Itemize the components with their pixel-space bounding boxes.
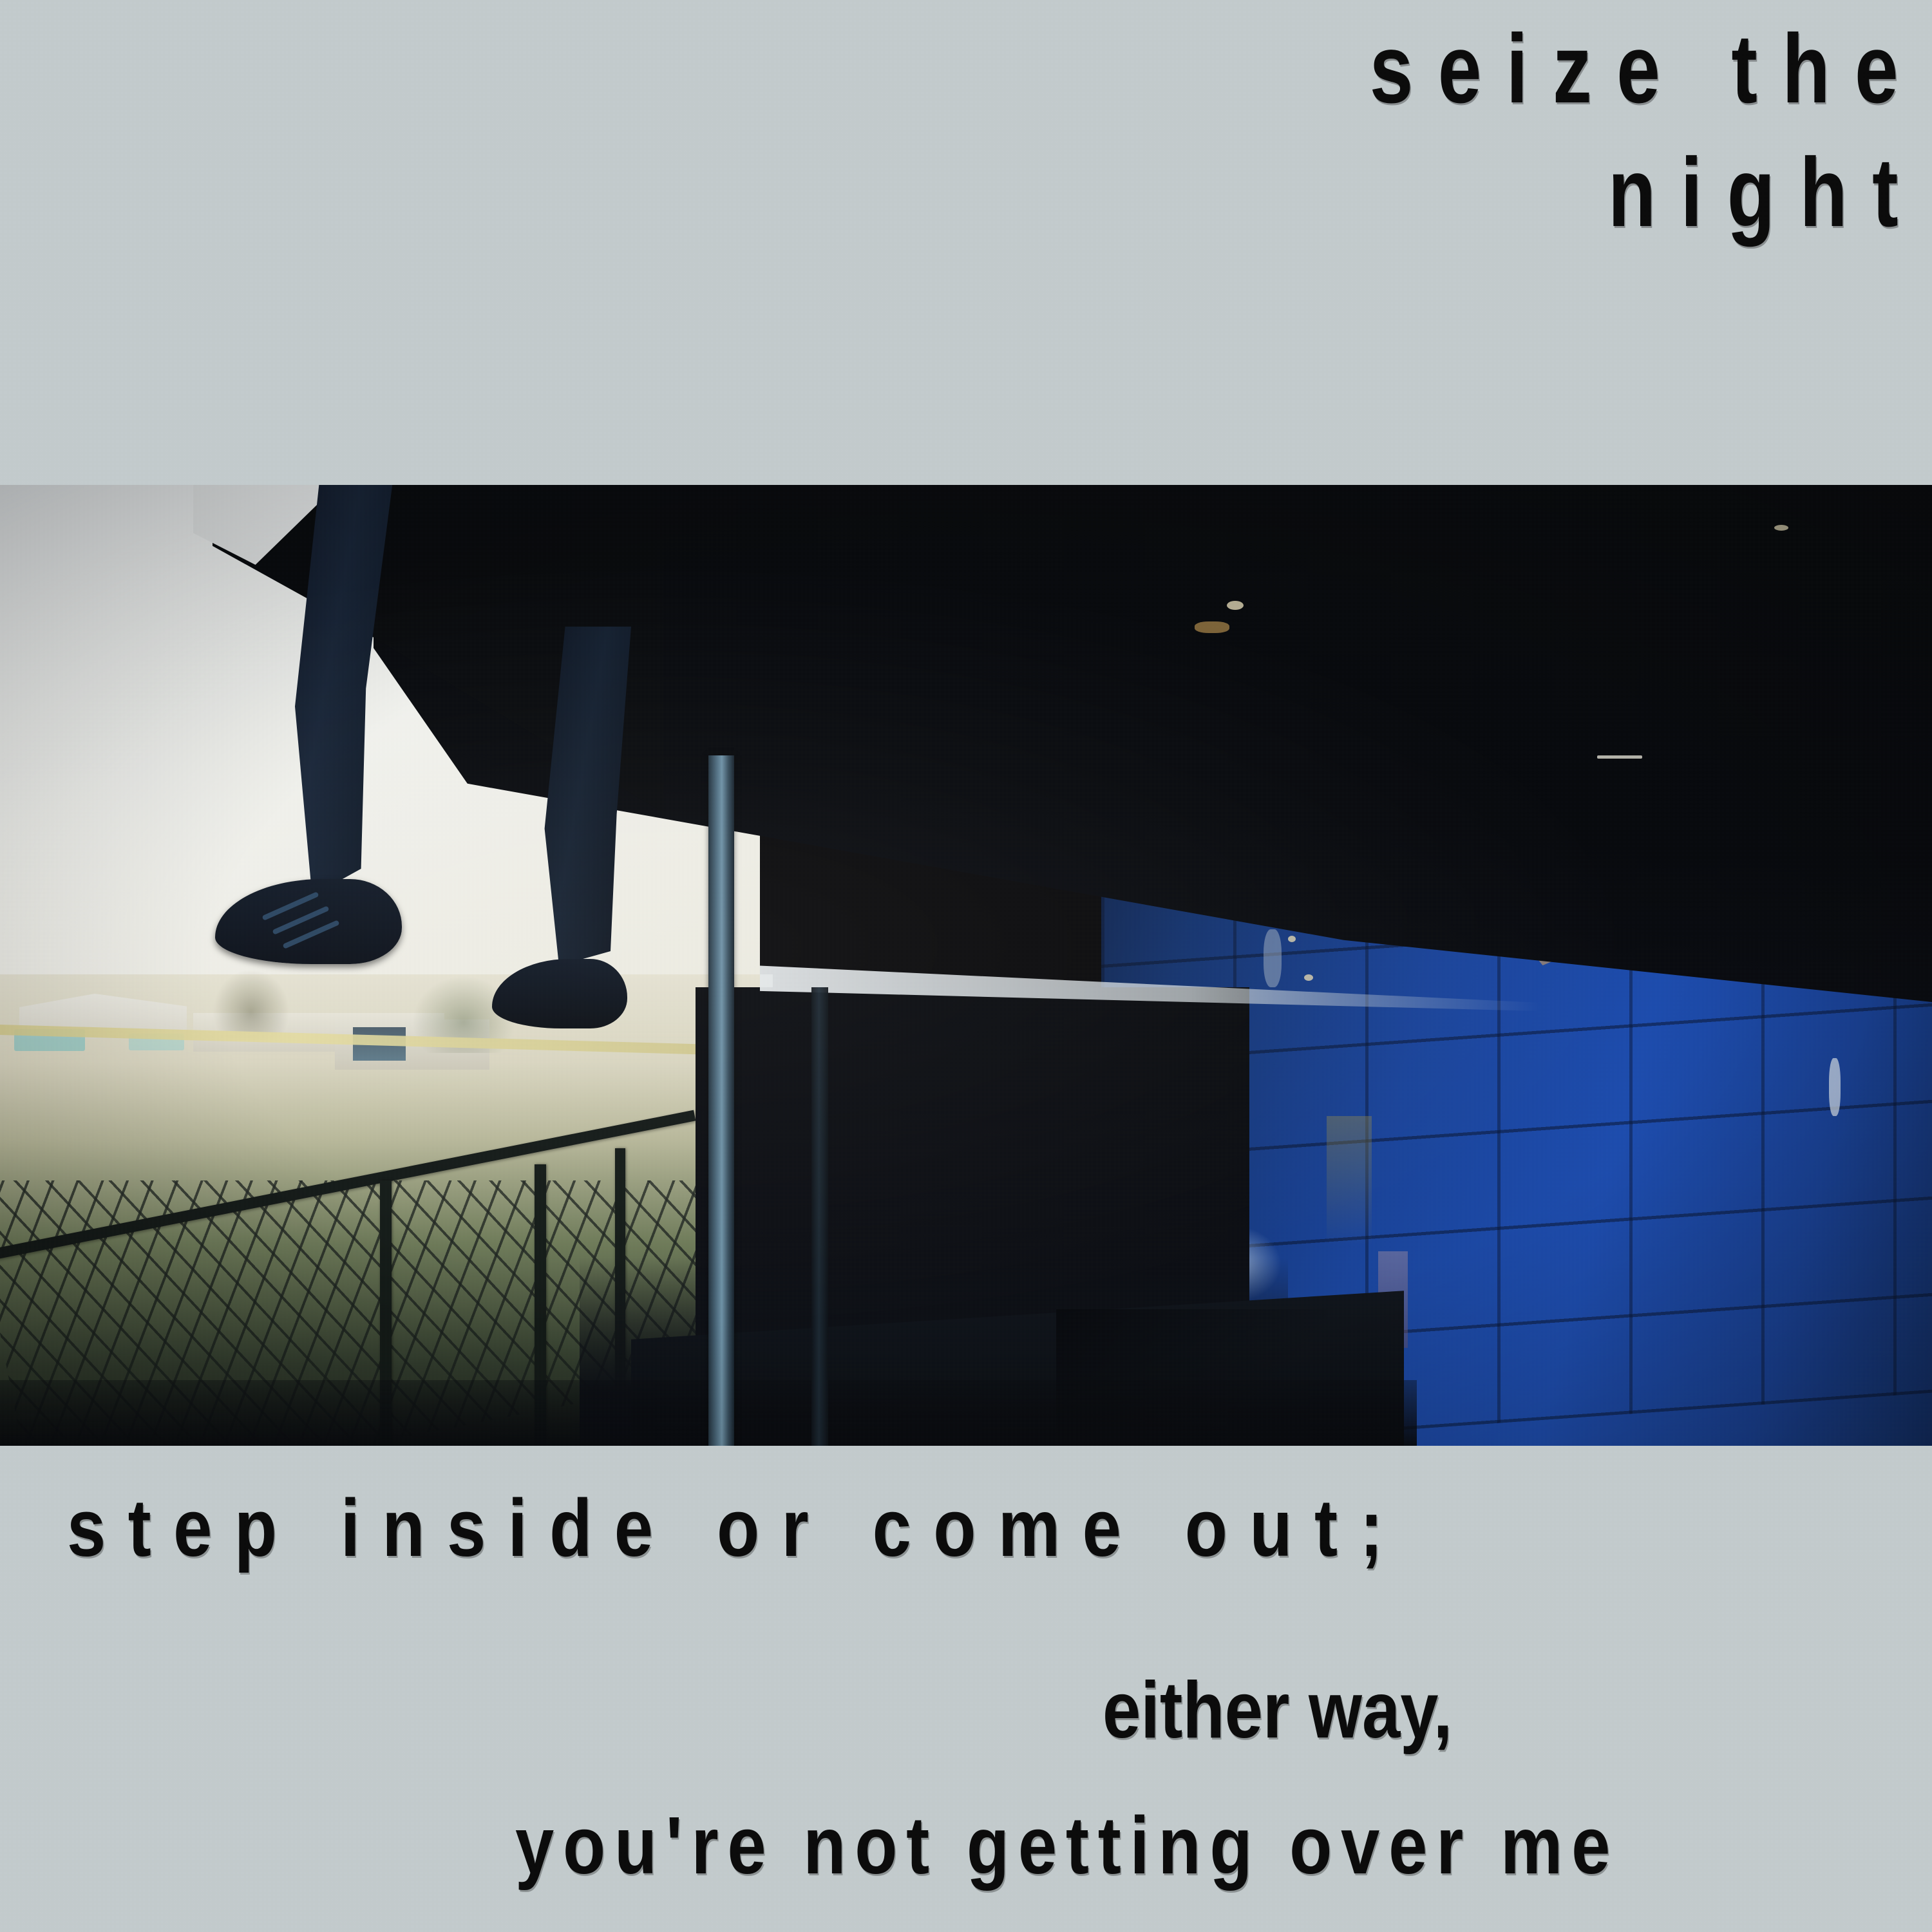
- photo-wall-scuff-2: [1264, 929, 1282, 987]
- photo-dark-corner: [1056, 1309, 1327, 1446]
- photo-wall-scuff-6: [1327, 1116, 1372, 1245]
- cover-photograph: [0, 485, 1932, 1446]
- photo-wall-scuff-3: [1829, 1058, 1841, 1116]
- album-cover: seize the night: [0, 0, 1932, 1932]
- lyric-line-2: either way,: [1103, 1665, 1452, 1756]
- album-title-line-1: seize the: [384, 12, 1923, 126]
- photo-light-speck-3: [1774, 525, 1788, 531]
- photo-light-speck-5: [1288, 936, 1296, 942]
- photo-light-speck-1: [1227, 601, 1244, 610]
- photo-light-speck-6: [1304, 974, 1313, 981]
- album-title-line-2: night: [384, 135, 1923, 250]
- lyric-line-3: you're not getting over me: [515, 1799, 1619, 1892]
- photo-light-speck-2: [1195, 621, 1229, 633]
- lyric-block: step inside or come out; either way, you…: [0, 1446, 1932, 1932]
- photo-tree-1: [213, 969, 290, 1040]
- lyric-line-1: step inside or come out;: [67, 1481, 1405, 1575]
- photo-support-post-2: [811, 987, 828, 1446]
- photo-support-pole: [708, 755, 734, 1446]
- album-title: seize the night: [0, 0, 1932, 250]
- photo-light-speck-4: [1597, 755, 1642, 759]
